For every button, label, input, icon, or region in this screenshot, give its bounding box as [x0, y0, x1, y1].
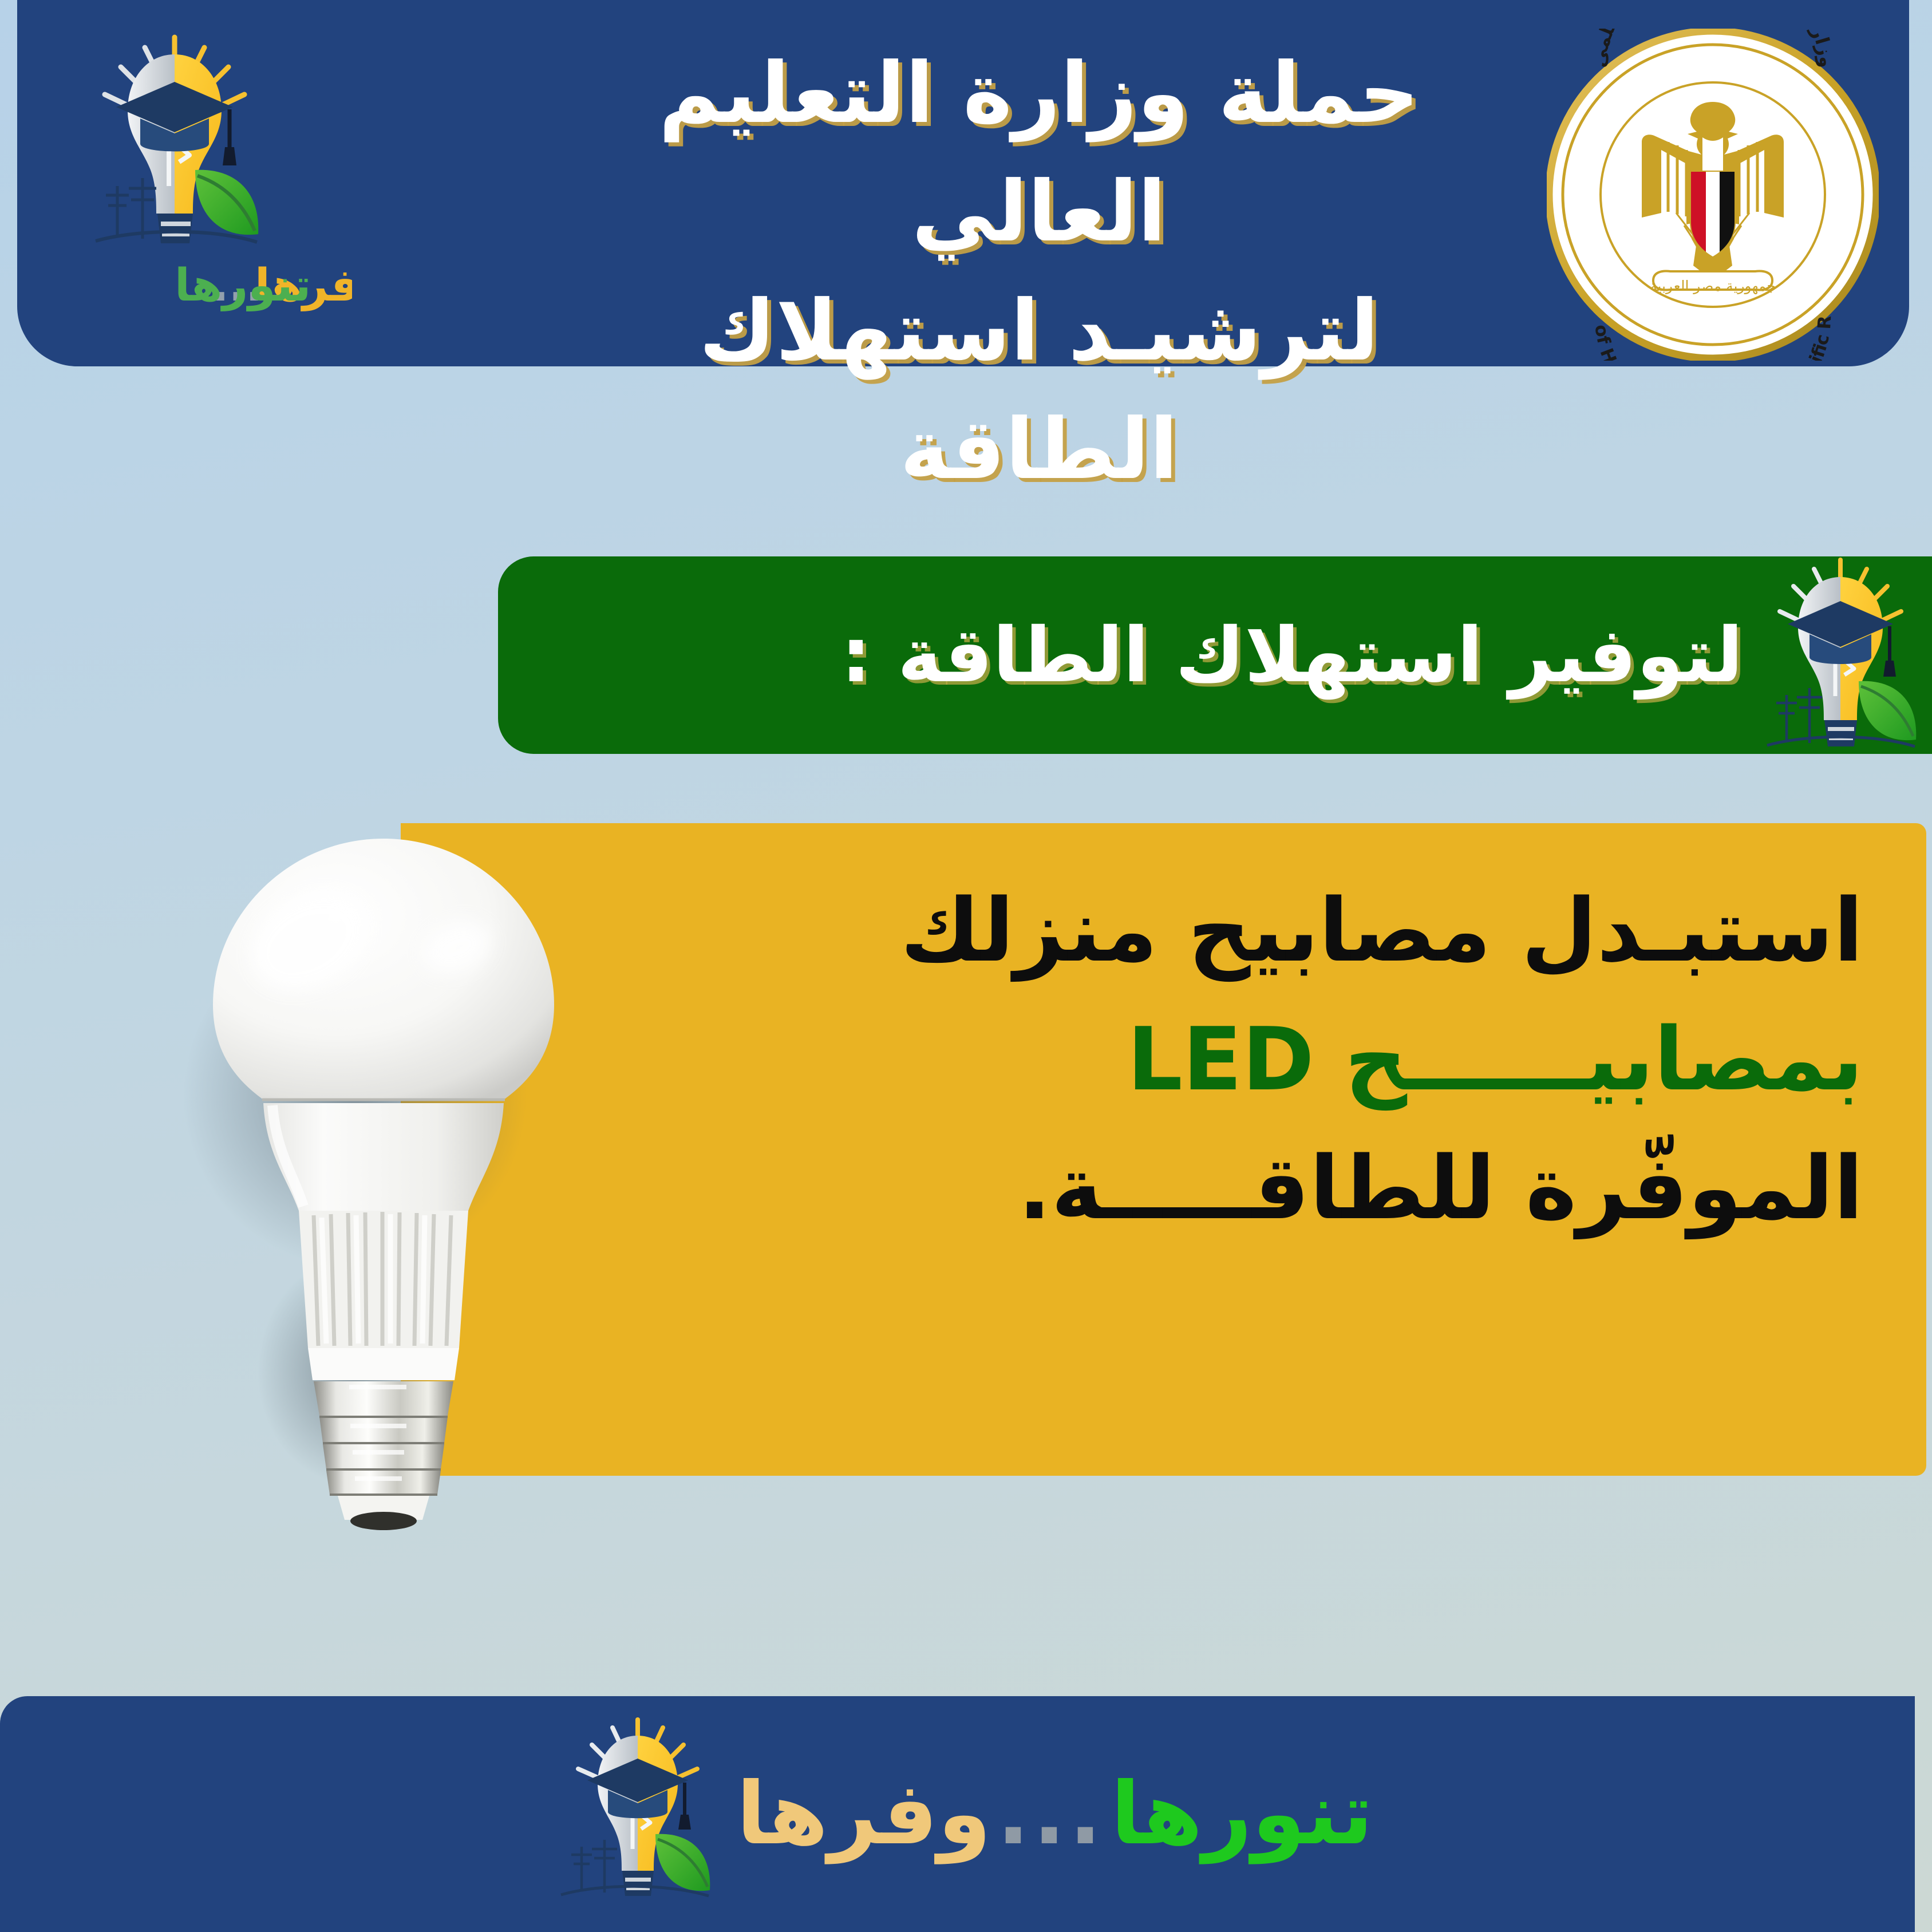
content-box: استبـدل مصابيح منزلك بمصابيــــــح LED ا…: [401, 823, 1926, 1476]
banner-text: لتوفير استهلاك الطاقة :: [841, 611, 1743, 700]
banner-bulb-logo-icon: [1755, 556, 1926, 754]
page-title: حملة وزارة التعليم العالي لترشيـد استهلا…: [570, 34, 1508, 509]
footer-bulb-logo-icon: [542, 1715, 730, 1910]
campaign-logo-slogan-green: تنورها: [175, 260, 311, 311]
led-bulb-image: [166, 776, 601, 1537]
emblem-scroll-text: جمهورية مصر العربية: [1650, 278, 1776, 295]
footer-slogan-green: تنورها: [1111, 1771, 1373, 1857]
header-title-line-1: حملة وزارة التعليم العالي: [659, 45, 1420, 260]
content-line-2: بمصابيــــــح LED: [518, 995, 1863, 1124]
campaign-bulb-logo: وفرها ... تنورها: [83, 14, 352, 355]
energy-saving-banner: لتوفير استهلاك الطاقة :: [498, 556, 1932, 754]
header-title-line-2: لترشيـد استهلاك الطاقة: [570, 272, 1508, 509]
footer-bar: تنورها ... وفرها: [0, 1696, 1915, 1932]
footer-slogan-dots: ...: [997, 1771, 1105, 1857]
content-line-3: الموفّرة للطاقـــــة.: [518, 1124, 1863, 1253]
content-line-1: استبـدل مصابيح منزلك: [518, 867, 1863, 995]
footer-slogan-gold: وفرها: [736, 1771, 991, 1857]
ministry-emblem: جمهورية مصر العربية وزارة التعليم العالى…: [1547, 29, 1879, 361]
content-lines: استبـدل مصابيح منزلك بمصابيــــــح LED ا…: [518, 867, 1863, 1253]
header-bar: وفرها ... تنورها حملة وزارة التعليم العا…: [17, 0, 1909, 366]
